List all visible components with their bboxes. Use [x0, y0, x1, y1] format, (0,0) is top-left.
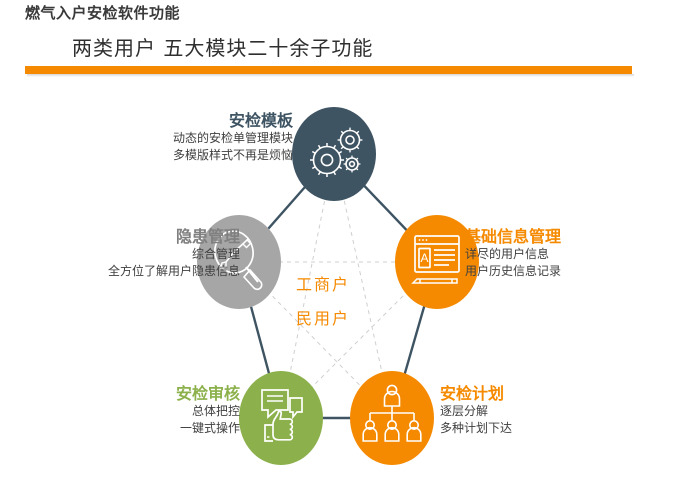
node-desc-plan-1: 逐层分解 — [440, 403, 670, 420]
page-title: 燃气入户安检软件功能 — [25, 2, 180, 23]
slide-canvas: 燃气入户安检软件功能 两类用户 五大模块二十余子功能 — [0, 0, 692, 486]
node-text-hazard: 隐患管理 综合管理 全方位了解用户隐患信息 — [15, 228, 240, 280]
node-desc-template-1: 动态的安检单管理模块 — [43, 130, 293, 147]
node-desc-template-2: 多模版样式不再是烦恼 — [43, 147, 293, 164]
node-desc-plan-2: 多种计划下达 — [440, 420, 670, 437]
node-text-basic-info: 基础信息管理 详尽的用户信息 用户历史信息记录 — [465, 228, 685, 280]
node-circle-plan[interactable] — [350, 371, 434, 465]
node-text-audit: 安检审核 总体把控 一键式操作 — [25, 385, 240, 437]
svg-text:A: A — [420, 251, 428, 265]
node-desc-audit-1: 总体把控 — [25, 403, 240, 420]
node-title-audit: 安检审核 — [25, 385, 240, 403]
node-text-plan: 安检计划 逐层分解 多种计划下达 — [440, 385, 670, 437]
node-text-template: 安检模板 动态的安检单管理模块 多模版样式不再是烦恼 — [43, 112, 293, 164]
node-desc-hazard-1: 综合管理 — [15, 246, 240, 263]
node-title-hazard: 隐患管理 — [15, 228, 240, 246]
node-circle-template[interactable] — [292, 107, 376, 201]
node-circle-audit[interactable] — [239, 371, 323, 465]
node-desc-basic-info-2: 用户历史信息记录 — [465, 263, 685, 280]
title-divider-bar — [25, 66, 632, 74]
node-desc-hazard-2: 全方位了解用户隐患信息 — [15, 263, 240, 280]
node-desc-basic-info-1: 详尽的用户信息 — [465, 246, 685, 263]
node-title-template: 安检模板 — [43, 112, 293, 130]
node-title-plan: 安检计划 — [440, 385, 670, 403]
node-title-basic-info: 基础信息管理 — [465, 228, 685, 246]
center-label-commercial: 工商户 — [296, 271, 350, 295]
title-divider-shadow — [27, 74, 634, 77]
node-desc-audit-2: 一键式操作 — [25, 420, 240, 437]
center-label-residential: 民用户 — [296, 305, 350, 329]
page-subtitle: 两类用户 五大模块二十余子功能 — [72, 32, 373, 61]
